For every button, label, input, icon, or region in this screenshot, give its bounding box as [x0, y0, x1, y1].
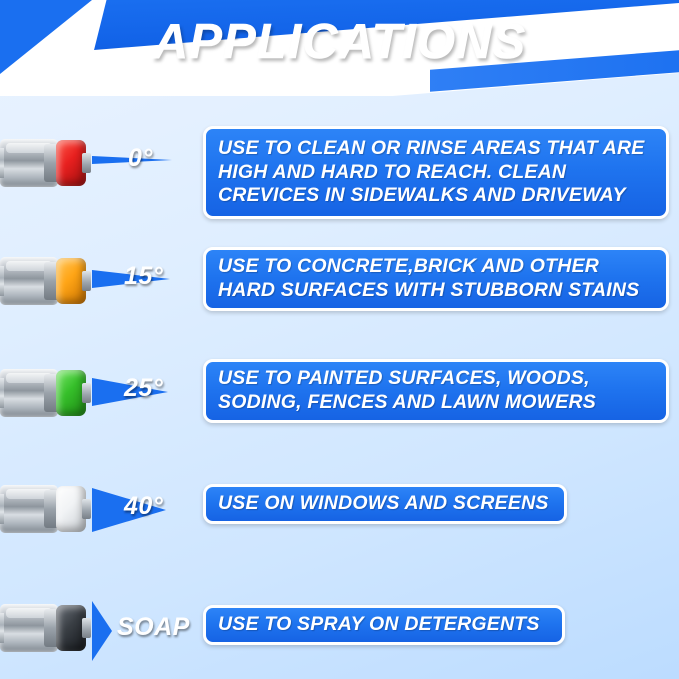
callout-box: USE TO CLEAN OR RINSE AREAS THAT ARE HIG…: [203, 126, 669, 219]
callout-text: USE TO PAINTED SURFACES, WOODS, SODING, …: [218, 367, 654, 415]
callout-box: USE TO PAINTED SURFACES, WOODS, SODING, …: [203, 359, 669, 423]
callout-box: USE ON WINDOWS AND SCREENS: [203, 484, 567, 524]
application-row: 40° USE ON WINDOWS AND SCREENS: [0, 464, 679, 559]
application-row: 15° USE TO CONCRETE,BRICK AND OTHER HARD…: [0, 236, 679, 336]
application-row: 25° USE TO PAINTED SURFACES, WOODS, SODI…: [0, 348, 679, 448]
angle-label: 25°: [124, 374, 163, 403]
nozzle-tip-icon: [56, 258, 86, 304]
nozzle-tip-icon: [56, 605, 86, 651]
nozzle-tip-icon: [56, 140, 86, 186]
callout-text: USE ON WINDOWS AND SCREENS: [218, 492, 549, 516]
nozzle-assembly: [0, 356, 106, 430]
application-row: 0° USE TO CLEAN OR RINSE AREAS THAT ARE …: [0, 114, 679, 224]
nozzle-tip-icon: [56, 370, 86, 416]
nozzle-tip-icon: [56, 486, 86, 532]
callout-text: USE TO CONCRETE,BRICK AND OTHER HARD SUR…: [218, 255, 654, 303]
callout-text: USE TO CLEAN OR RINSE AREAS THAT ARE HIG…: [218, 137, 654, 208]
spray-pattern-icon: [92, 601, 115, 661]
nozzle-assembly: [0, 244, 106, 318]
angle-label: 15°: [124, 262, 163, 291]
applications-poster: APPLICATIONS 0° USE TO CLEAN OR RINSE AR…: [0, 0, 679, 679]
poster-header: APPLICATIONS: [0, 0, 679, 96]
angle-label: 40°: [124, 492, 163, 521]
application-rows: 0° USE TO CLEAN OR RINSE AREAS THAT ARE …: [0, 96, 679, 679]
angle-label: SOAP: [117, 613, 190, 642]
callout-box: USE TO SPRAY ON DETERGENTS: [203, 605, 565, 645]
callout-box: USE TO CONCRETE,BRICK AND OTHER HARD SUR…: [203, 247, 669, 311]
angle-label: 0°: [128, 144, 153, 173]
nozzle-assembly: [0, 126, 106, 200]
application-row: SOAP USE TO SPRAY ON DETERGENTS: [0, 583, 679, 678]
nozzle-assembly: [0, 591, 106, 665]
callout-text: USE TO SPRAY ON DETERGENTS: [218, 613, 540, 637]
nozzle-assembly: [0, 472, 106, 546]
page-title: APPLICATIONS: [0, 14, 679, 70]
